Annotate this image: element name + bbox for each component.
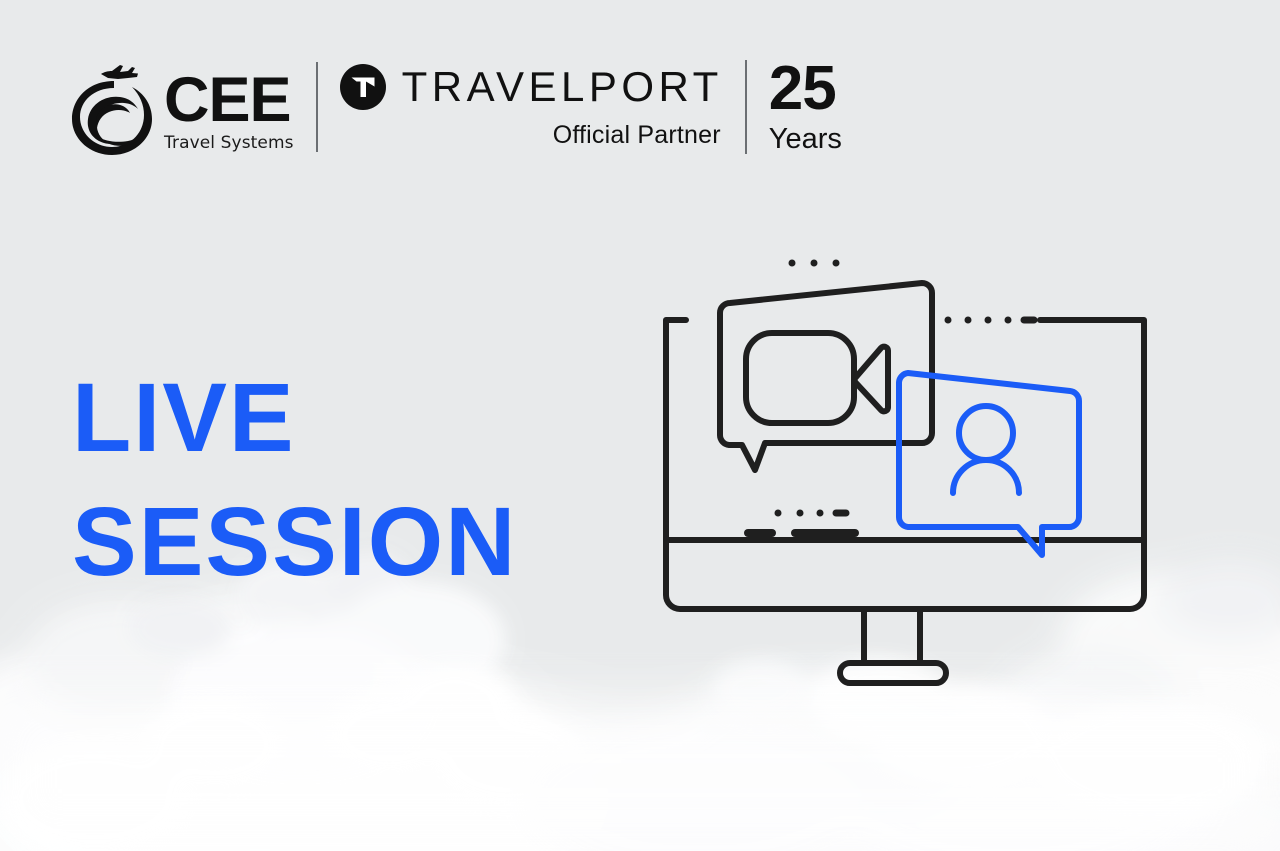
cee-tagline: Travel Systems bbox=[164, 133, 294, 153]
cee-wordmark: CEE Travel Systems bbox=[164, 73, 294, 157]
anniversary-number: 25 bbox=[769, 60, 836, 117]
travelport-subtitle: Official Partner bbox=[553, 121, 721, 150]
travelport-wordmark-row: TRAVELPORT bbox=[340, 64, 723, 110]
monitor-video-chat-graphic bbox=[650, 255, 1160, 695]
poster-canvas: CEE Travel Systems TRAVELPORT Official P… bbox=[0, 0, 1280, 851]
cee-name: CEE bbox=[164, 73, 294, 128]
travelport-name: TRAVELPORT bbox=[402, 66, 723, 108]
desktop-monitor-icon bbox=[666, 320, 1144, 609]
travelport-logo: TRAVELPORT Official Partner bbox=[340, 57, 723, 157]
cee-logo: CEE Travel Systems bbox=[68, 57, 294, 157]
video-camera-icon bbox=[746, 333, 854, 423]
travelport-circle-t-icon bbox=[340, 64, 386, 110]
user-avatar-icon bbox=[959, 406, 1013, 460]
anniversary-badge: 25 Years bbox=[769, 57, 842, 157]
brand-logo-bar: CEE Travel Systems TRAVELPORT Official P… bbox=[68, 52, 842, 162]
live-session-illustration bbox=[650, 255, 1160, 695]
speech-bubble-icon bbox=[899, 373, 1079, 555]
anniversary-unit: Years bbox=[769, 125, 842, 154]
brand-divider-1 bbox=[316, 62, 318, 152]
cee-globe-airplane-icon bbox=[68, 61, 156, 157]
page-title: LIVE SESSION bbox=[72, 356, 517, 604]
brand-divider-2 bbox=[745, 60, 747, 154]
